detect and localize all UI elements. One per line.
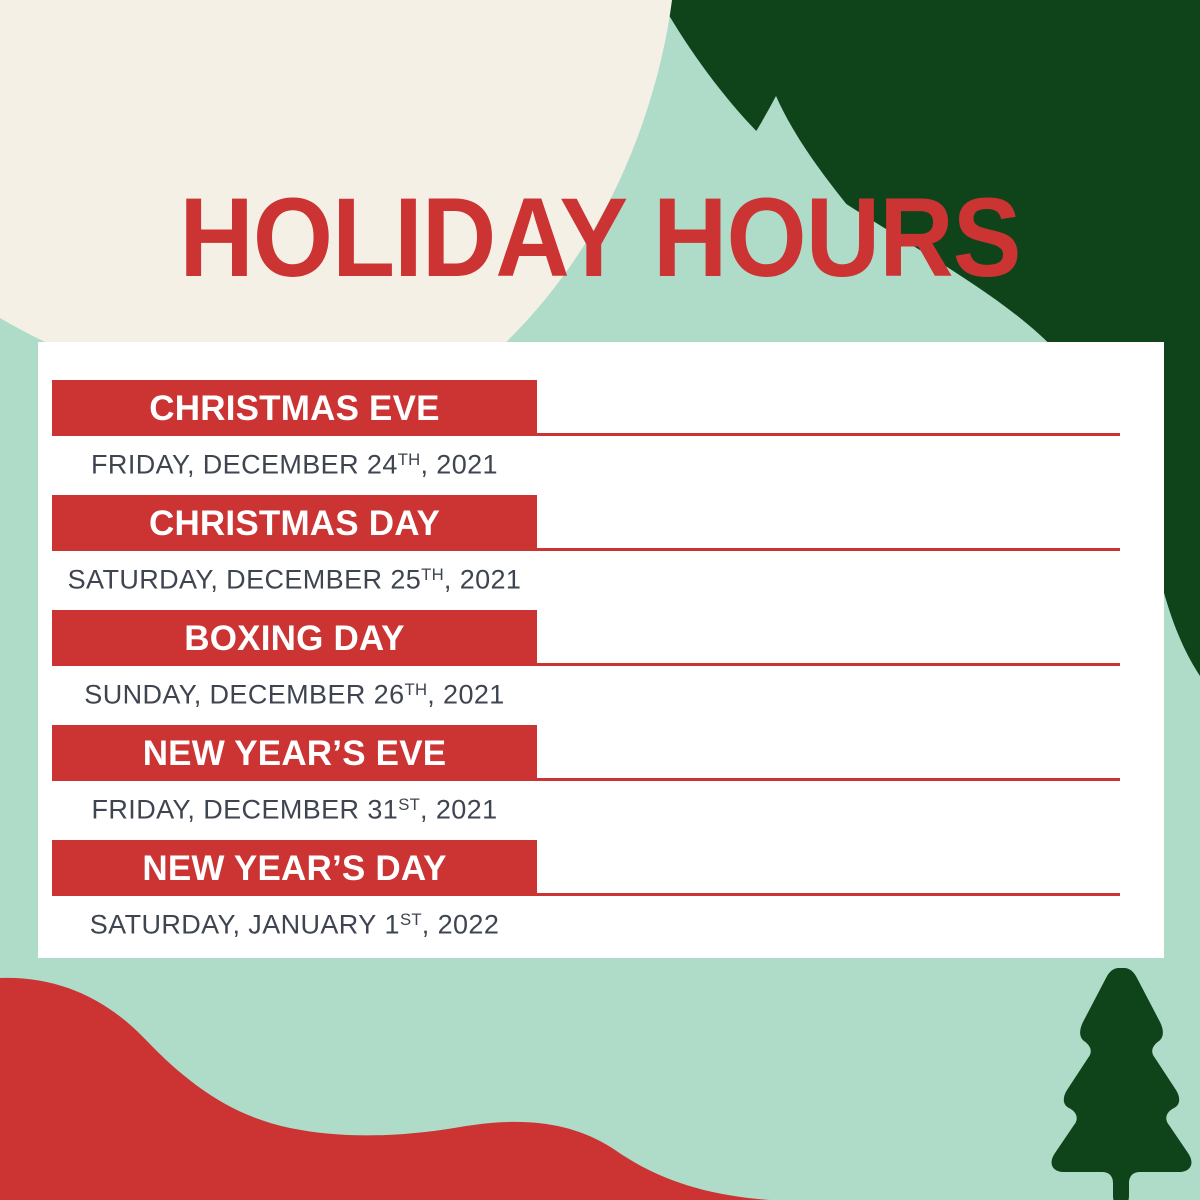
date-month: DECEMBER xyxy=(210,680,366,710)
holiday-date: SATURDAY, JANUARY 1ST, 2022 xyxy=(52,900,537,945)
date-ordinal: ST xyxy=(400,910,422,929)
hours-write-in-rule xyxy=(537,548,1120,551)
hours-write-in-rule xyxy=(537,663,1120,666)
hours-row: CHRISTMAS EVE FRIDAY, DECEMBER 24TH, 202… xyxy=(38,380,1164,495)
date-ordinal: TH xyxy=(421,565,444,584)
hours-write-in-rule xyxy=(537,433,1120,436)
date-ordinal: TH xyxy=(405,680,428,699)
date-weekday: SUNDAY, xyxy=(84,680,201,710)
date-year: 2021 xyxy=(436,450,498,480)
date-month: DECEMBER xyxy=(203,450,359,480)
date-day: 26 xyxy=(374,680,405,710)
holiday-name: BOXING DAY xyxy=(184,621,404,656)
holiday-hours-poster: HOLIDAY HOURS CHRISTMAS EVE FRIDAY, DECE… xyxy=(0,0,1200,1200)
holiday-name: NEW YEAR’S EVE xyxy=(143,736,447,771)
holiday-label-bar: BOXING DAY xyxy=(52,610,537,666)
hours-write-in-rule xyxy=(537,893,1120,896)
date-weekday: FRIDAY, xyxy=(92,795,196,825)
hours-write-in-rule xyxy=(537,778,1120,781)
holiday-date: FRIDAY, DECEMBER 31ST, 2021 xyxy=(52,785,537,830)
hours-card: CHRISTMAS EVE FRIDAY, DECEMBER 24TH, 202… xyxy=(38,342,1164,958)
date-year: 2021 xyxy=(443,680,505,710)
date-month: DECEMBER xyxy=(226,565,382,595)
holiday-label-bar: NEW YEAR’S EVE xyxy=(52,725,537,781)
holiday-label-bar: NEW YEAR’S DAY xyxy=(52,840,537,896)
holiday-name: CHRISTMAS EVE xyxy=(149,391,439,426)
holiday-date: SATURDAY, DECEMBER 25TH, 2021 xyxy=(52,555,537,600)
holiday-label-bar: CHRISTMAS DAY xyxy=(52,495,537,551)
page-title: HOLIDAY HOURS xyxy=(48,182,1152,294)
date-ordinal: TH xyxy=(398,450,421,469)
hours-row: NEW YEAR’S EVE FRIDAY, DECEMBER 31ST, 20… xyxy=(38,725,1164,840)
date-day: 31 xyxy=(367,795,398,825)
holiday-name: NEW YEAR’S DAY xyxy=(142,851,446,886)
date-month: JANUARY xyxy=(248,910,376,940)
hours-row: BOXING DAY SUNDAY, DECEMBER 26TH, 2021 xyxy=(38,610,1164,725)
hours-list: CHRISTMAS EVE FRIDAY, DECEMBER 24TH, 202… xyxy=(38,342,1164,955)
hours-row: CHRISTMAS DAY SATURDAY, DECEMBER 25TH, 2… xyxy=(38,495,1164,610)
date-day: 1 xyxy=(385,910,400,940)
date-year: 2021 xyxy=(436,795,498,825)
date-year: 2022 xyxy=(438,910,500,940)
date-weekday: SATURDAY, xyxy=(90,910,241,940)
date-day: 24 xyxy=(367,450,398,480)
date-weekday: FRIDAY, xyxy=(91,450,195,480)
hours-row: NEW YEAR’S DAY SATURDAY, JANUARY 1ST, 20… xyxy=(38,840,1164,955)
date-year: 2021 xyxy=(460,565,522,595)
holiday-date: SUNDAY, DECEMBER 26TH, 2021 xyxy=(52,670,537,715)
date-day: 25 xyxy=(390,565,421,595)
date-weekday: SATURDAY, xyxy=(68,565,219,595)
holiday-label-bar: CHRISTMAS EVE xyxy=(52,380,537,436)
date-ordinal: ST xyxy=(398,795,420,814)
holiday-date: FRIDAY, DECEMBER 24TH, 2021 xyxy=(52,440,537,485)
holiday-name: CHRISTMAS DAY xyxy=(149,506,440,541)
date-month: DECEMBER xyxy=(203,795,359,825)
